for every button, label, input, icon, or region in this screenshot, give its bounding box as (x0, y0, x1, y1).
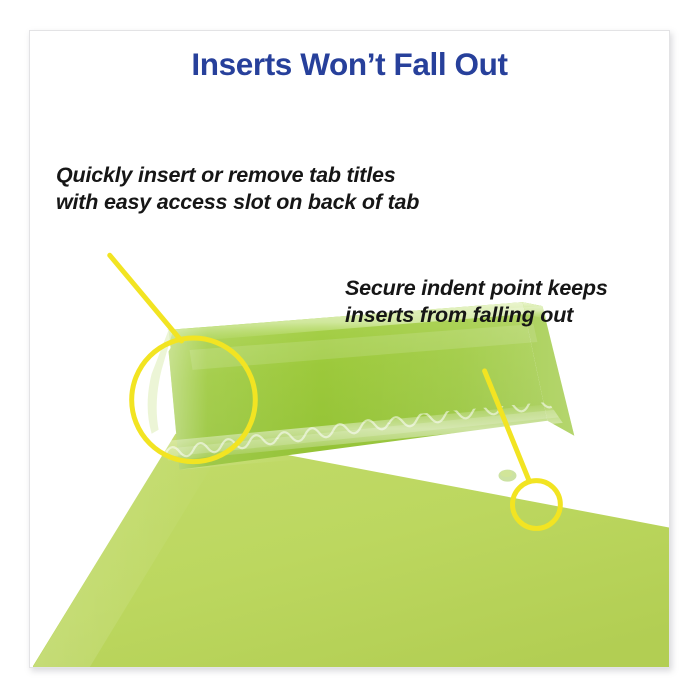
callout-text-left: Quickly insert or remove tab titles with… (56, 162, 419, 217)
tab-access-slot (130, 330, 173, 444)
callout-right-line-1: Secure indent point keeps (345, 275, 608, 302)
callout-left-line-1: Quickly insert or remove tab titles (56, 162, 419, 189)
product-illustration (30, 31, 669, 667)
callout-text-right: Secure indent point keeps inserts from f… (345, 275, 608, 330)
callout-left-line-2: with easy access slot on back of tab (56, 189, 419, 216)
page-title: Inserts Won’t Fall Out (30, 47, 669, 82)
divider-sheet (33, 434, 669, 667)
product-photo (30, 31, 669, 667)
callout-right-line-2: inserts from falling out (345, 302, 608, 329)
product-card: Inserts Won’t Fall Out Quickly insert or… (29, 30, 670, 668)
product-feature-image: Inserts Won’t Fall Out Quickly insert or… (0, 0, 700, 700)
indent-point (499, 470, 517, 482)
